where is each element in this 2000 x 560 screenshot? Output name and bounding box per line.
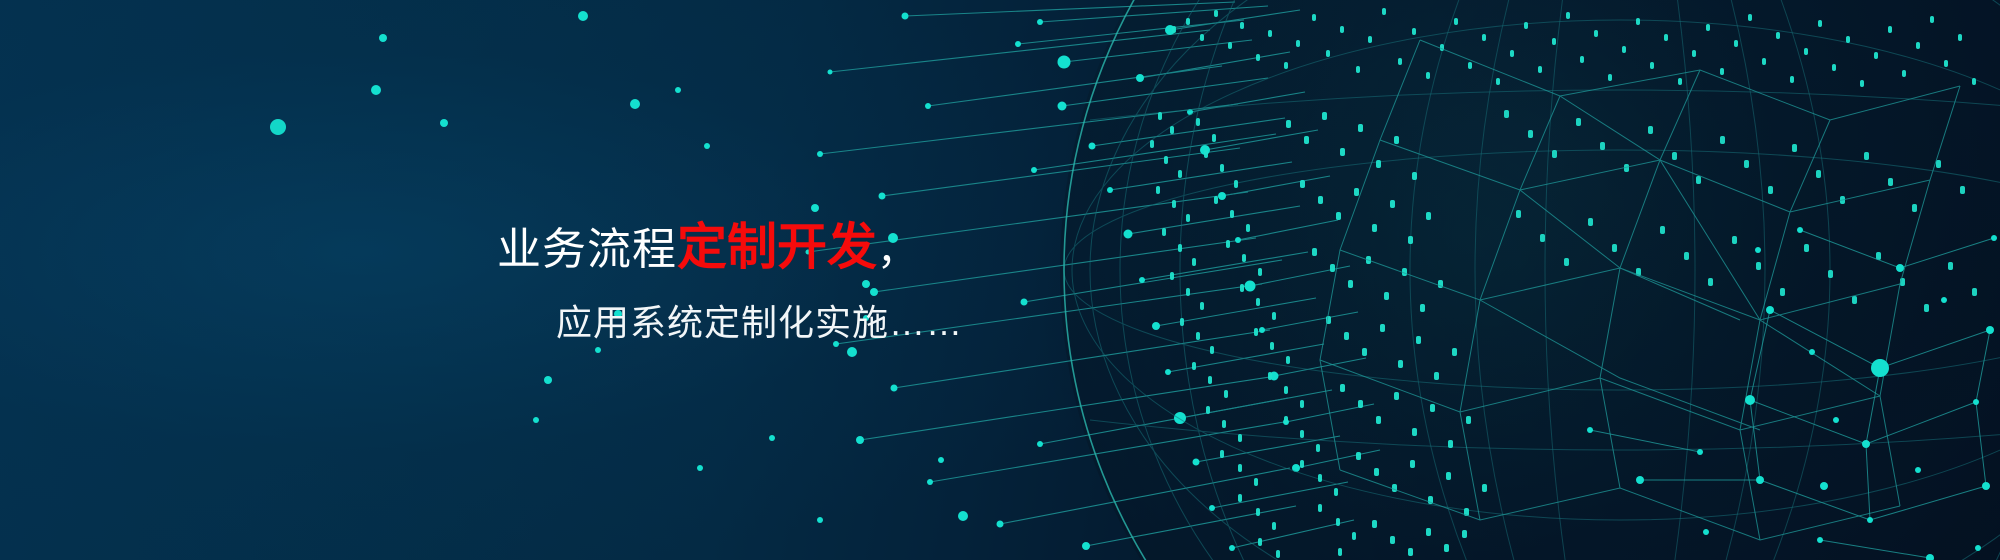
digital-globe-network-graphic (0, 0, 2000, 560)
hero-banner: 业务流程定制开发， 应用系统定制化实施…… (0, 0, 2000, 560)
